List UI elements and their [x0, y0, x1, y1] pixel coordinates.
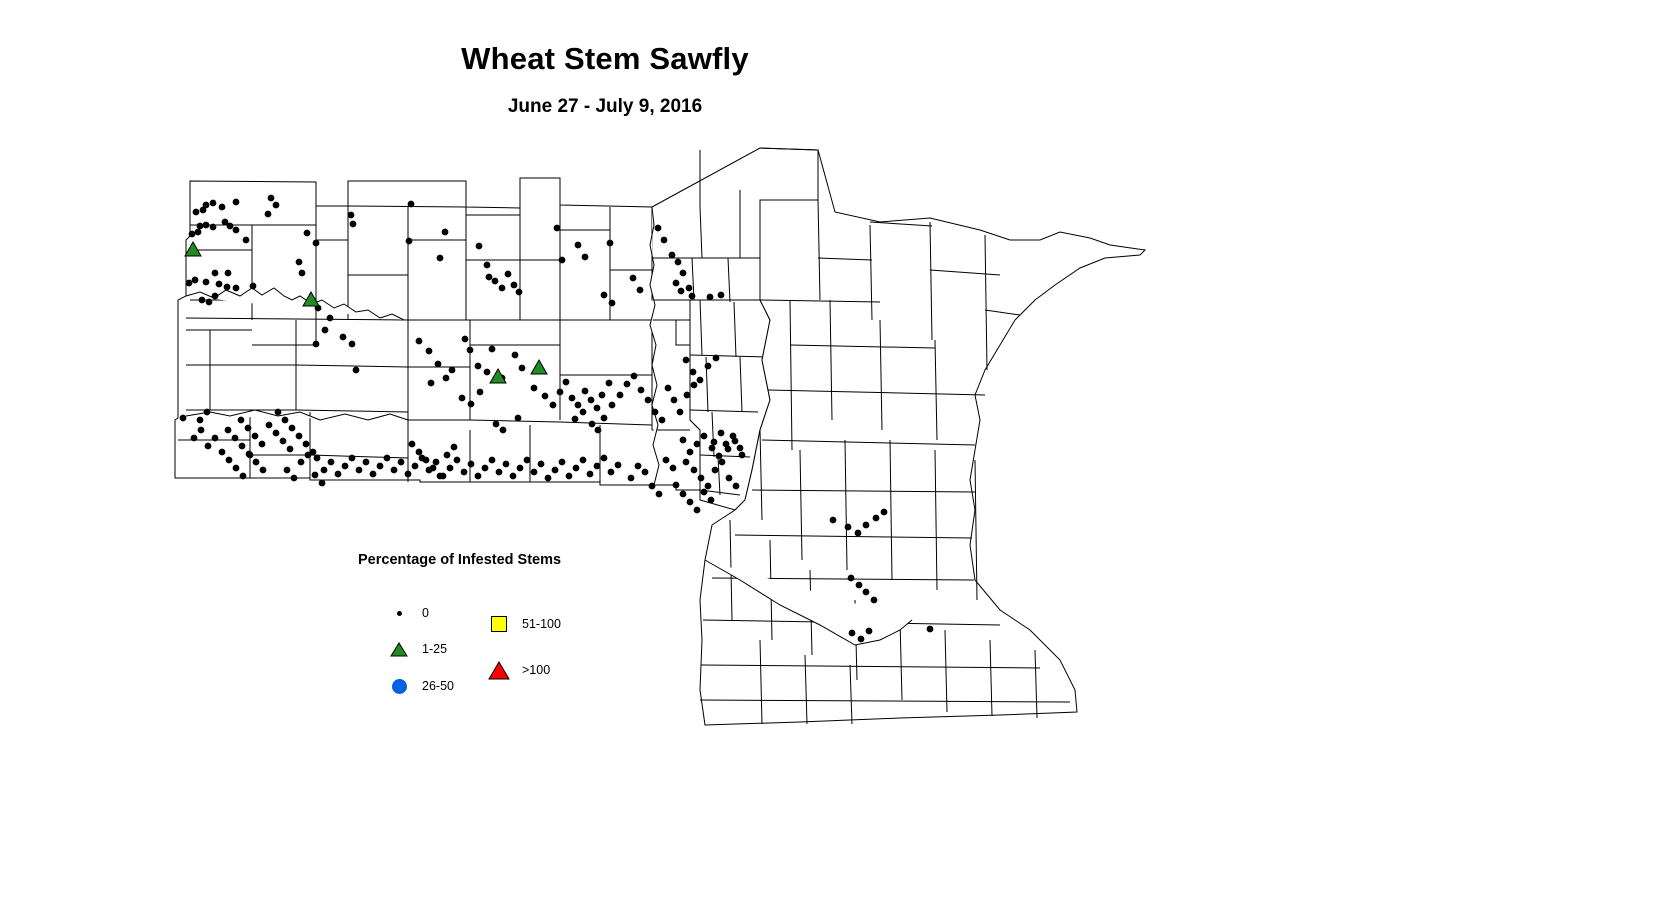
survey-point — [384, 455, 390, 461]
survey-point — [845, 524, 851, 530]
survey-point — [303, 441, 309, 447]
survey-point — [489, 457, 495, 463]
survey-point — [287, 446, 293, 452]
legend-title: Percentage of Infested Stems — [358, 552, 561, 568]
survey-point — [516, 289, 522, 295]
survey-point — [468, 401, 474, 407]
survey-point — [416, 449, 422, 455]
survey-point — [405, 471, 411, 477]
survey-point — [180, 415, 186, 421]
survey-point — [451, 444, 457, 450]
survey-point — [732, 438, 738, 444]
survey-point — [669, 252, 675, 258]
survey-point — [203, 279, 209, 285]
survey-point — [683, 357, 689, 363]
survey-point — [447, 465, 453, 471]
survey-point — [849, 630, 855, 636]
survey-point — [239, 443, 245, 449]
map-page: Wheat Stem Sawfly June 27 - July 9, 2016 — [0, 0, 1673, 900]
survey-point — [459, 395, 465, 401]
survey-point — [238, 417, 244, 423]
survey-point — [655, 225, 661, 231]
survey-point — [243, 237, 249, 243]
survey-point — [606, 380, 612, 386]
survey-point — [273, 430, 279, 436]
survey-point — [268, 195, 274, 201]
survey-point — [275, 409, 281, 415]
survey-point — [726, 475, 732, 481]
survey-point — [260, 467, 266, 473]
survey-point — [665, 385, 671, 391]
survey-point — [232, 435, 238, 441]
survey-point — [673, 482, 679, 488]
survey-point — [517, 465, 523, 471]
legend-blue-circle-icon — [386, 675, 412, 697]
survey-point — [227, 223, 233, 229]
survey-point — [195, 229, 201, 235]
survey-point — [705, 363, 711, 369]
survey-point — [628, 475, 634, 481]
survey-point — [631, 373, 637, 379]
survey-point — [370, 471, 376, 477]
survey-point — [545, 475, 551, 481]
survey-point — [500, 427, 506, 433]
survey-point — [391, 467, 397, 473]
survey-point — [437, 255, 443, 261]
survey-point — [580, 409, 586, 415]
survey-point — [705, 483, 711, 489]
survey-point — [684, 392, 690, 398]
survey-point — [538, 461, 544, 467]
survey-point — [624, 381, 630, 387]
survey-point — [298, 459, 304, 465]
survey-point — [587, 471, 593, 477]
survey-point — [737, 445, 743, 451]
survey-point — [677, 409, 683, 415]
survey-point — [694, 507, 700, 513]
survey-point — [656, 491, 662, 497]
survey-point — [512, 352, 518, 358]
legend-label-over-100: >100 — [522, 663, 550, 677]
survey-point — [856, 582, 862, 588]
survey-point — [189, 231, 195, 237]
survey-point — [353, 367, 359, 373]
survey-point — [313, 341, 319, 347]
survey-point — [572, 416, 578, 422]
survey-point — [687, 499, 693, 505]
survey-point — [691, 467, 697, 473]
survey-point — [687, 449, 693, 455]
survey-point — [594, 463, 600, 469]
survey-point — [224, 284, 230, 290]
survey-point — [348, 212, 354, 218]
survey-point — [652, 409, 658, 415]
survey-point — [486, 274, 492, 280]
survey-point — [663, 457, 669, 463]
legend-green-triangle-icon — [386, 638, 412, 660]
survey-point — [462, 336, 468, 342]
survey-point — [253, 459, 259, 465]
survey-point — [683, 459, 689, 465]
survey-point — [449, 367, 455, 373]
survey-point — [713, 355, 719, 361]
survey-point — [599, 392, 605, 398]
survey-point — [247, 452, 253, 458]
survey-point — [686, 285, 692, 291]
survey-point — [342, 463, 348, 469]
survey-point — [489, 346, 495, 352]
survey-point — [296, 259, 302, 265]
survey-point — [313, 240, 319, 246]
survey-point — [200, 207, 206, 213]
survey-point — [542, 393, 548, 399]
survey-point — [363, 459, 369, 465]
survey-point — [871, 597, 877, 603]
survey-point — [328, 459, 334, 465]
survey-point — [225, 427, 231, 433]
legend-red-triangle-icon — [486, 659, 512, 681]
legend-label-51-100: 51-100 — [522, 617, 561, 631]
survey-point — [697, 377, 703, 383]
survey-point — [645, 397, 651, 403]
survey-point — [707, 294, 713, 300]
survey-point — [716, 453, 722, 459]
legend-item-over-100[interactable]: >100 — [486, 659, 550, 681]
survey-point — [637, 287, 643, 293]
survey-point — [350, 221, 356, 227]
survey-point — [563, 379, 569, 385]
survey-point — [475, 363, 481, 369]
survey-point — [312, 472, 318, 478]
survey-point — [240, 473, 246, 479]
survey-point — [630, 275, 636, 281]
survey-point — [482, 465, 488, 471]
survey-point — [718, 292, 724, 298]
survey-point — [557, 389, 563, 395]
survey-point — [701, 433, 707, 439]
survey-point — [467, 347, 473, 353]
survey-point — [510, 473, 516, 479]
survey-point — [638, 387, 644, 393]
survey-point — [642, 469, 648, 475]
survey-point — [409, 441, 415, 447]
survey-point — [335, 471, 341, 477]
survey-point — [314, 455, 320, 461]
survey-point — [192, 277, 198, 283]
survey-point — [866, 628, 872, 634]
survey-point — [588, 397, 594, 403]
survey-point — [412, 463, 418, 469]
survey-point — [554, 225, 560, 231]
survey-point — [689, 293, 695, 299]
survey-point — [698, 475, 704, 481]
survey-point — [197, 417, 203, 423]
survey-point — [671, 397, 677, 403]
survey-point — [617, 392, 623, 398]
survey-point — [524, 457, 530, 463]
survey-point — [430, 465, 436, 471]
survey-point — [690, 369, 696, 375]
survey-point — [709, 445, 715, 451]
survey-point — [186, 280, 192, 286]
survey-point — [349, 341, 355, 347]
survey-point — [210, 224, 216, 230]
survey-point — [454, 457, 460, 463]
survey-point — [349, 455, 355, 461]
survey-point — [250, 283, 256, 289]
survey-point — [659, 417, 665, 423]
survey-point — [493, 421, 499, 427]
minnesota-counties — [700, 148, 1145, 725]
survey-point — [927, 626, 933, 632]
survey-point — [198, 427, 204, 433]
survey-point — [416, 338, 422, 344]
survey-point — [327, 315, 333, 321]
survey-point — [284, 467, 290, 473]
survey-point — [377, 463, 383, 469]
survey-point — [531, 385, 537, 391]
survey-point — [718, 430, 724, 436]
survey-point — [712, 467, 718, 473]
survey-point — [552, 467, 558, 473]
survey-point — [589, 421, 595, 427]
survey-point — [476, 243, 482, 249]
survey-point — [661, 237, 667, 243]
survey-point — [299, 270, 305, 276]
survey-point — [212, 435, 218, 441]
survey-point — [573, 465, 579, 471]
survey-point — [739, 452, 745, 458]
map-canvas — [0, 0, 1673, 900]
survey-point — [437, 473, 443, 479]
legend-label-0: 0 — [422, 606, 429, 620]
survey-point — [296, 433, 302, 439]
survey-point — [550, 402, 556, 408]
survey-point — [673, 280, 679, 286]
survey-point — [830, 517, 836, 523]
survey-point — [428, 380, 434, 386]
survey-point — [680, 437, 686, 443]
survey-point — [461, 469, 467, 475]
survey-point — [496, 469, 502, 475]
survey-point — [433, 459, 439, 465]
survey-point — [252, 433, 258, 439]
survey-point — [594, 405, 600, 411]
survey-point — [863, 589, 869, 595]
survey-point — [607, 240, 613, 246]
survey-point — [289, 425, 295, 431]
survey-point — [204, 409, 210, 415]
survey-point — [265, 211, 271, 217]
survey-point — [408, 201, 414, 207]
survey-point — [725, 446, 731, 452]
survey-point — [273, 202, 279, 208]
survey-point — [442, 229, 448, 235]
legend-item-26-50[interactable]: 26-50 — [386, 675, 454, 697]
survey-point — [319, 480, 325, 486]
survey-point — [694, 441, 700, 447]
survey-point — [245, 425, 251, 431]
survey-point — [733, 483, 739, 489]
survey-point — [582, 254, 588, 260]
survey-point — [719, 459, 725, 465]
survey-point — [701, 489, 707, 495]
survey-point — [881, 509, 887, 515]
survey-point — [225, 270, 231, 276]
survey-point — [484, 262, 490, 268]
survey-point — [266, 422, 272, 428]
survey-point — [691, 382, 697, 388]
survey-point — [280, 438, 286, 444]
montana-counties — [175, 178, 700, 490]
survey-point — [210, 200, 216, 206]
survey-point — [259, 441, 265, 447]
survey-point — [423, 457, 429, 463]
survey-point — [615, 462, 621, 468]
survey-point — [468, 461, 474, 467]
survey-point — [601, 292, 607, 298]
survey-point — [711, 439, 717, 445]
survey-point — [233, 285, 239, 291]
legend-label-1-25: 1-25 — [422, 642, 447, 656]
legend-dot-icon — [386, 602, 412, 624]
survey-point — [484, 369, 490, 375]
survey-point — [575, 242, 581, 248]
survey-point — [569, 395, 575, 401]
survey-point — [559, 257, 565, 263]
survey-point — [443, 375, 449, 381]
legend-yellow-square-icon — [486, 613, 512, 635]
survey-point — [233, 227, 239, 233]
survey-point — [191, 435, 197, 441]
survey-point — [305, 452, 311, 458]
survey-point — [670, 465, 676, 471]
survey-point — [444, 452, 450, 458]
survey-point — [566, 473, 572, 479]
survey-point — [675, 259, 681, 265]
survey-point — [219, 204, 225, 210]
survey-point — [531, 469, 537, 475]
survey-point — [519, 365, 525, 371]
survey-point — [635, 463, 641, 469]
survey-point — [233, 199, 239, 205]
survey-point — [708, 497, 714, 503]
survey-point — [559, 459, 565, 465]
survey-point — [595, 427, 601, 433]
survey-point — [398, 459, 404, 465]
survey-point — [492, 278, 498, 284]
survey-point — [291, 475, 297, 481]
survey-point — [340, 334, 346, 340]
survey-point — [511, 282, 517, 288]
map-legend: Percentage of Infested Stems 0 1-25 26-5… — [358, 552, 648, 712]
survey-point — [609, 300, 615, 306]
survey-point — [356, 467, 362, 473]
survey-point — [435, 361, 441, 367]
legend-label-26-50: 26-50 — [422, 679, 454, 693]
survey-point — [873, 515, 879, 521]
legend-item-51-100[interactable]: 51-100 — [486, 613, 561, 635]
survey-point — [499, 285, 505, 291]
survey-point — [205, 443, 211, 449]
survey-point — [406, 238, 412, 244]
survey-point — [203, 222, 209, 228]
survey-point — [515, 415, 521, 421]
survey-point — [858, 636, 864, 642]
survey-point — [212, 270, 218, 276]
survey-point — [197, 223, 203, 229]
survey-point — [863, 522, 869, 528]
survey-point — [282, 417, 288, 423]
survey-point — [582, 388, 588, 394]
survey-point — [601, 415, 607, 421]
survey-point — [477, 389, 483, 395]
survey-point — [206, 299, 212, 305]
survey-point — [608, 469, 614, 475]
survey-point — [855, 530, 861, 536]
survey-point — [649, 483, 655, 489]
survey-point — [505, 271, 511, 277]
survey-point — [199, 297, 205, 303]
survey-point — [680, 270, 686, 276]
legend-item-0[interactable]: 0 — [386, 602, 429, 624]
map-svg — [0, 0, 1673, 900]
survey-point — [219, 449, 225, 455]
survey-point — [848, 575, 854, 581]
survey-point — [475, 473, 481, 479]
survey-point — [609, 402, 615, 408]
survey-point — [304, 230, 310, 236]
survey-point — [321, 467, 327, 473]
survey-point — [233, 465, 239, 471]
survey-point — [193, 209, 199, 215]
survey-point — [601, 455, 607, 461]
survey-point — [680, 491, 686, 497]
survey-point — [575, 402, 581, 408]
survey-point — [226, 457, 232, 463]
survey-point — [322, 327, 328, 333]
survey-point — [678, 288, 684, 294]
survey-point — [426, 348, 432, 354]
legend-item-1-25[interactable]: 1-25 — [386, 638, 447, 660]
survey-point — [503, 461, 509, 467]
survey-point — [216, 281, 222, 287]
survey-point — [580, 457, 586, 463]
survey-point — [212, 293, 218, 299]
